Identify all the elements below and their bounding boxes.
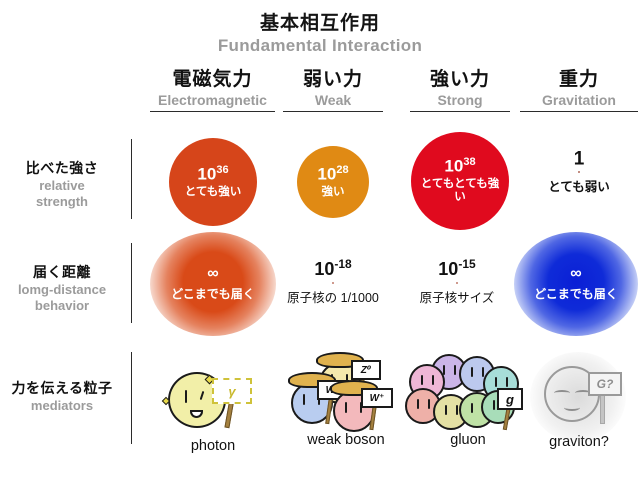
decorative-dot: [578, 171, 580, 173]
row-divider-mediators: [131, 352, 132, 444]
strength-value: 1036: [197, 165, 228, 183]
strength-cell-electromagnetic: 1036 とても強い: [150, 134, 276, 230]
distance-cell-strong: 10-15 原子核サイズ: [405, 252, 509, 312]
gluon-purple-eye-right: [454, 365, 456, 375]
weakboson-wminus-eye-left: [303, 394, 305, 405]
page-title-ja: 基本相互作用: [0, 8, 640, 35]
graviton-eye-left: [554, 390, 570, 396]
row-label-en-line2: behavior: [0, 299, 124, 314]
mediator-name-photon: photon: [150, 438, 276, 454]
column-header-en: Electromagnetic: [150, 92, 275, 108]
distance-value: 10-15: [420, 258, 495, 278]
photon-eye-left: [185, 390, 187, 403]
strength-value: 1: [548, 145, 610, 168]
row-label-ja: 届く距離: [0, 262, 124, 282]
gluon-red-eye-left: [417, 399, 419, 409]
mediator-graviton: G? graviton?: [520, 352, 638, 450]
row-label-ja: 比べた強さ: [0, 158, 124, 178]
mediator-art-photon: γ: [150, 358, 276, 436]
strength-caption: 強い: [322, 186, 345, 199]
column-header-ja: 電磁気力: [150, 64, 275, 91]
strength-value: 1028: [317, 165, 348, 183]
column-header-ja: 強い力: [410, 64, 510, 91]
column-header-rule: [150, 111, 275, 112]
mediator-art-weak-boson: Z⁰ W⁻ W⁺: [283, 348, 409, 436]
gluon-red-eye-right: [428, 399, 430, 409]
column-header-gravitation: 重力 Gravitation: [520, 64, 638, 112]
mediator-art-graviton: G?: [520, 352, 638, 436]
distance-plain-weak: 10-18 原子核の 1/1000: [287, 258, 379, 306]
graviton-sign-label: G?: [597, 377, 614, 391]
gluon-mint-eye-left: [493, 400, 495, 410]
distance-caption: 原子核の 1/1000: [287, 287, 379, 306]
mediator-gluon: g gluon: [405, 348, 531, 448]
gluon-sign-label: g: [506, 392, 514, 407]
gluon-pink-eye-left: [421, 375, 423, 385]
strength-caption: とても強い: [185, 186, 242, 199]
mediator-photon: γ photon: [150, 358, 276, 454]
row-divider-distance: [131, 243, 132, 323]
distance-caption: どこまでも届く: [171, 285, 255, 302]
distance-blob-gravitation: ∞ どこまでも届く: [514, 232, 638, 336]
row-label-mediators: 力を伝える粒子 mediators: [0, 378, 124, 414]
column-header-en: Weak: [283, 92, 383, 108]
distance-blob-electromagnetic: ∞ どこまでも届く: [150, 232, 276, 336]
column-header-electromagnetic: 電磁気力 Electromagnetic: [150, 64, 275, 112]
column-header-weak: 弱い力 Weak: [283, 64, 383, 112]
column-header-strong: 強い力 Strong: [410, 64, 510, 112]
strength-value: 1038: [444, 157, 475, 175]
strength-circle-weak: 1028 強い: [297, 146, 369, 218]
strength-caption: とてもとても強い: [411, 178, 509, 204]
mediator-weak-boson: Z⁰ W⁻ W⁺ weak boson: [283, 348, 409, 448]
infographic-root: 基本相互作用 Fundamental Interaction 電磁気力 Elec…: [0, 0, 640, 480]
distance-symbol: ∞: [570, 266, 581, 282]
distance-value: 10-18: [287, 258, 379, 278]
column-header-rule: [410, 111, 510, 112]
distance-caption: 原子核サイズ: [420, 287, 495, 306]
column-header-rule: [520, 111, 638, 112]
distance-cell-electromagnetic: ∞ どこまでも届く: [147, 232, 279, 336]
distance-symbol: ∞: [207, 266, 218, 282]
gluon-pink-eye-right: [432, 375, 434, 385]
page-title-en: Fundamental Interaction: [0, 36, 640, 56]
strength-cell-strong: 1038 とてもとても強い: [405, 128, 515, 234]
column-header-en: Gravitation: [520, 92, 638, 108]
distance-caption: どこまでも届く: [534, 285, 618, 302]
row-label-en-line1: relative: [0, 179, 124, 194]
distance-cell-weak: 10-18 原子核の 1/1000: [283, 252, 383, 312]
graviton-mouth: [564, 404, 580, 411]
gluon-green-eye-left: [471, 403, 473, 413]
gluon-yellow-eye-right: [456, 405, 458, 415]
photon-sign-label: γ: [228, 384, 235, 399]
graviton-sign-stick: [600, 392, 605, 424]
weakboson-sign-z: Z⁰: [351, 360, 381, 380]
column-header-en: Strong: [410, 92, 510, 108]
gluon-teal-eye-right: [506, 377, 508, 387]
strength-cell-weak: 1028 強い: [283, 134, 383, 230]
strength-circle-strong: 1038 とてもとても強い: [411, 132, 509, 230]
decorative-dot: [456, 282, 458, 284]
row-label-en-line1: lomg-distance: [0, 283, 124, 298]
strength-caption: とても弱い: [548, 176, 610, 195]
weakboson-wplus-eye-left: [345, 402, 347, 413]
distance-plain-strong: 10-15 原子核サイズ: [420, 258, 495, 306]
strength-plain-gravitation: 1 とても弱い: [548, 145, 610, 195]
row-divider-strength: [131, 139, 132, 219]
row-label-long-distance: 届く距離 lomg-distance behavior: [0, 262, 124, 314]
row-label-relative-strength: 比べた強さ relative strength: [0, 158, 124, 210]
column-header-ja: 重力: [520, 64, 638, 91]
graviton-sign: G?: [588, 372, 622, 396]
weakboson-sign-z-label: Z⁰: [361, 365, 372, 376]
gluon-teal-eye-left: [495, 377, 497, 387]
row-label-en-line1: mediators: [0, 399, 124, 414]
decorative-dot: [332, 282, 334, 284]
column-header-ja: 弱い力: [283, 64, 383, 91]
weakboson-sign-wplus-label: W⁺: [370, 393, 385, 404]
photon-sign: γ: [212, 378, 252, 404]
strength-circle-electromagnetic: 1036 とても強い: [169, 138, 257, 226]
gluon-blue-eye-left: [471, 367, 473, 377]
row-label-en-line2: strength: [0, 195, 124, 210]
column-header-rule: [283, 111, 383, 112]
page-title: 基本相互作用 Fundamental Interaction: [0, 8, 640, 56]
distance-cell-gravitation: ∞ どこまでも届く: [512, 232, 640, 336]
strength-cell-gravitation: 1 とても弱い: [520, 140, 638, 200]
gluon-yellow-eye-left: [445, 405, 447, 415]
weakboson-sign-wplus: W⁺: [361, 388, 393, 408]
row-label-ja: 力を伝える粒子: [0, 378, 124, 398]
mediator-art-gluon: g: [405, 348, 531, 436]
